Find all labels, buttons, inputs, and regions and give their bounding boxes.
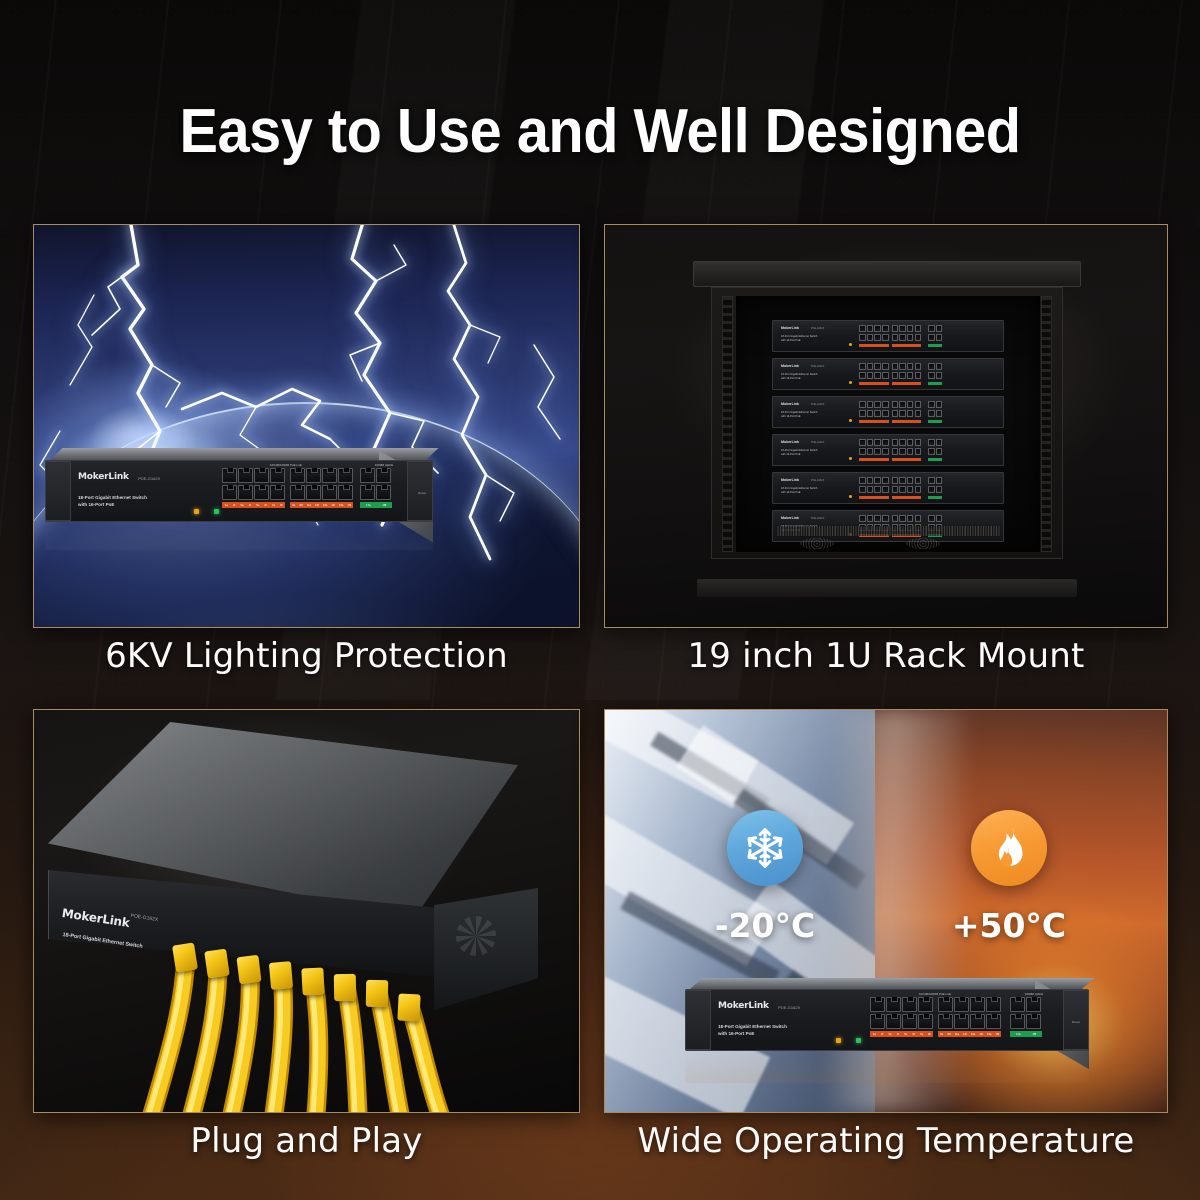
caption-rack: 19 inch 1U Rack Mount [604, 636, 1168, 676]
snowflake-icon [743, 826, 787, 870]
rack-switch-brand: MokerLink [781, 326, 799, 330]
ethernet-switch-device: MokerLink POE-G162X 18-Port Gigabit Ethe… [685, 978, 1089, 1070]
feature-cell-rack: MokerLink POE-G162X 18-Port Gigabit Ethe… [604, 224, 1168, 628]
device-brand: MokerLink [718, 1001, 769, 1011]
page-title: Easy to Use and Well Designed [42, 96, 1158, 167]
uplink-port-bank[interactable]: 17a18f [1010, 997, 1042, 1037]
uplink-port-bank[interactable]: 17a18f [360, 468, 392, 508]
poe-port-label-group-2: 9a10f11a12f13a14f15a16f [938, 1031, 1001, 1037]
ventilation-swirl-icon [456, 916, 496, 956]
uplink-port-label-group: 17a18f [1010, 1031, 1042, 1037]
device-desc-line2: with 16-Port PoE [78, 502, 115, 509]
rack-interior: MokerLink POE-G162X 18-Port Gigabit Ethe… [736, 296, 1040, 552]
caption-lightning: 6KV Lighting Protection [33, 636, 580, 676]
rack-switch-model: POE-G162X [811, 327, 824, 330]
system-led [214, 509, 219, 514]
device-right-side [434, 888, 538, 1010]
device-reflection [45, 524, 433, 550]
feature-cell-temperature: -20°C +50°C MokerLink POE-G162X 18-Port … [604, 709, 1168, 1113]
poe-port-label-group-1: 1a2f3a4f5a6f7a8f [870, 1031, 933, 1037]
device-brand: MokerLink [78, 472, 129, 482]
rack-switch-desc: 18-Port Gigabit Ethernet Switch with 16-… [781, 335, 817, 343]
rack-rail-right [1041, 296, 1052, 552]
poe-port-bank[interactable]: 1a2f3a4f5a6f7a8f [870, 997, 1001, 1037]
rack-switch-1: MokerLink POE-G162X 18-Port Gigabit Ethe… [772, 320, 1004, 352]
feature-cell-plug: MokerLink POE-G162X 18-Port Gigabit Ethe… [33, 709, 580, 1113]
device-model: POE-G162X [130, 913, 158, 923]
rj45-plug [269, 961, 293, 990]
panel-plug-image: MokerLink POE-G162X 18-Port Gigabit Ethe… [33, 709, 580, 1113]
rj45-plug [301, 967, 324, 995]
device-desc-line1: 18-Port Gigabit Ethernet Switch [718, 1024, 787, 1031]
rack-switch-2: MokerLink POE-G162X 18-Port Gigabit Ethe… [772, 358, 1004, 390]
rack-switch-3: MokerLink POE-G162X 18-Port Gigabit Ethe… [772, 396, 1004, 428]
rack-rail-left [722, 296, 733, 552]
poe-port-bank[interactable]: 1a2f3a4f5a6f7a8f [222, 468, 353, 508]
device-reflection [685, 1053, 1089, 1083]
rj45-plug [334, 974, 356, 1001]
poe-bank-title: 10/100/1000M PoE Link [222, 463, 350, 467]
cold-badge [727, 810, 803, 886]
poe-port-label-group-2: 9a10f11a12f13a14f15a16f [290, 502, 353, 508]
power-led [836, 1038, 841, 1043]
device-desc-line2: with 16-Port PoE [718, 1031, 755, 1038]
cold-temperature-value: -20°C [680, 906, 850, 945]
ethernet-switch-device: MokerLink POE-G162X 18-Port Gigabit Ethe… [45, 448, 433, 538]
rj45-plug [397, 993, 420, 1021]
system-led [856, 1038, 861, 1043]
rj45-plug [172, 942, 198, 972]
feature-cell-lightning: MokerLink POE-G162X 18-Port Gigabit Ethe… [33, 224, 580, 628]
rack-fan-left [800, 538, 834, 549]
rack-ear-left [685, 990, 711, 1050]
uplink-bank-title: 1000M Uplink [1010, 992, 1058, 996]
rack-fan-right [906, 538, 940, 549]
panel-lightning-image: MokerLink POE-G162X 18-Port Gigabit Ethe… [33, 224, 580, 628]
power-led [194, 509, 199, 514]
lightning-bolt-icon [34, 225, 580, 628]
infographic-page: Easy to Use and Well Designed [0, 0, 1200, 1200]
device-model: POE-G162X [138, 476, 160, 481]
poe-port-label-group-1: 1a2f3a4f5a6f7a8f [222, 502, 285, 508]
hot-badge [971, 810, 1047, 886]
rack-cabinet: MokerLink POE-G162X 18-Port Gigabit Ethe… [711, 261, 1063, 581]
reset-button-label[interactable]: Reset [1072, 1020, 1080, 1024]
rack-switch-4: MokerLink POE-G162X 18-Port Gigabit Ethe… [772, 434, 1004, 466]
panel-rack-image: MokerLink POE-G162X 18-Port Gigabit Ethe… [604, 224, 1168, 628]
rack-frame: MokerLink POE-G162X 18-Port Gigabit Ethe… [711, 287, 1063, 559]
rack-vent-grille [776, 526, 1000, 536]
rack-ear-left [45, 461, 71, 521]
rack-switch-5: MokerLink POE-G162X 18-Port Gigabit Ethe… [772, 472, 1004, 504]
rack-top-cap [693, 261, 1081, 287]
rj45-plug [236, 955, 261, 984]
uplink-port-label-group: 17a18f [360, 502, 392, 508]
rj45-plug [204, 949, 230, 979]
caption-plug: Plug and Play [33, 1121, 580, 1161]
flame-icon [989, 826, 1029, 870]
device-desc-line1: 18-Port Gigabit Ethernet Switch [78, 495, 147, 502]
caption-temperature: Wide Operating Temperature [604, 1121, 1168, 1161]
rj45-plug [366, 980, 388, 1007]
reset-button-label[interactable]: Reset [418, 491, 426, 495]
device-model: POE-G162X [778, 1005, 800, 1010]
uplink-bank-title: 1000M Uplink [360, 463, 408, 467]
poe-bank-title: 10/100/1000M PoE Link [870, 992, 1000, 996]
panel-temperature-image: -20°C +50°C MokerLink POE-G162X 18-Port … [604, 709, 1168, 1113]
rack-base [697, 579, 1077, 597]
ethernet-switch-device-angled: MokerLink POE-G162X 18-Port Gigabit Ethe… [48, 722, 538, 1022]
device-desc-line1: 18-Port Gigabit Ethernet Switch [62, 932, 143, 952]
hot-temperature-value: +50°C [924, 906, 1094, 945]
device-brand: MokerLink [61, 906, 131, 930]
